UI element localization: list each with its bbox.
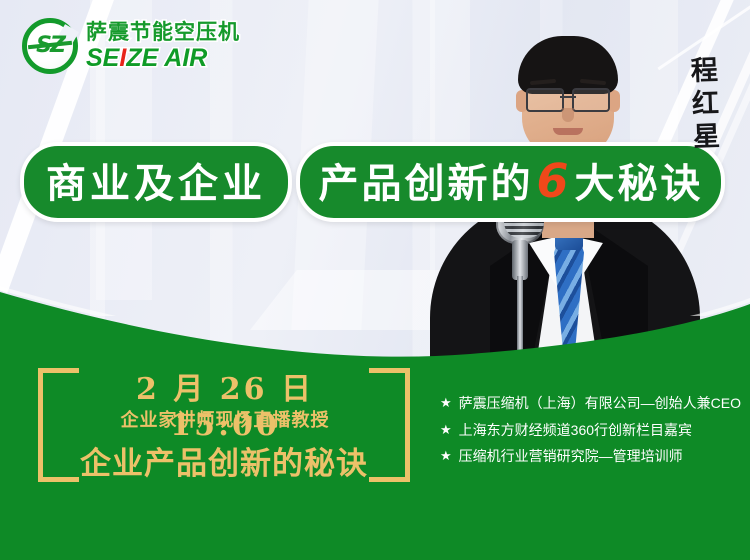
star-icon: ★ bbox=[440, 449, 452, 463]
credential-text: 压缩机行业营销研究院—管理培训师 bbox=[459, 449, 683, 464]
logo-mark-icon: SZ bbox=[22, 18, 78, 74]
headline-number: 6 bbox=[533, 154, 574, 208]
glasses-lens-left bbox=[526, 88, 564, 112]
promo-banner: SZ 萨震节能空压机 SEIZE AIR 商业及企业 产品创新的6大秘诀 程红星… bbox=[0, 0, 750, 560]
brand-name-en-pre: SE bbox=[86, 44, 119, 72]
event-details: 2 月 26 日 15:00 企业家讲师现场直播教授 企业产品创新的秘诀 bbox=[38, 360, 410, 488]
glasses-bridge bbox=[560, 96, 576, 98]
logo-monogram: SZ bbox=[30, 31, 70, 61]
brand-logo: SZ 萨震节能空压机 SEIZE AIR bbox=[22, 18, 240, 74]
headline-line-2-pre: 产品创新的 bbox=[318, 162, 533, 206]
nose bbox=[562, 108, 574, 122]
event-subtitle: 企业家讲师现场直播教授 bbox=[86, 406, 364, 432]
list-item: ★ 上海东方财经频道360行创新栏目嘉宾 bbox=[440, 423, 740, 438]
speaker-name-vertical: 程红星 bbox=[674, 55, 721, 155]
headline: 商业及企业 产品创新的6大秘诀 bbox=[20, 132, 725, 222]
brand-name-en: SEIZE AIR bbox=[86, 46, 240, 71]
credential-text: 萨震压缩机（上海）有限公司—创始人兼CEO bbox=[459, 396, 741, 411]
headline-line-2: 产品创新的6大秘诀 bbox=[296, 142, 725, 222]
credentials-list: ★ 萨震压缩机（上海）有限公司—创始人兼CEO ★ 上海东方财经频道360行创新… bbox=[440, 396, 740, 476]
glasses-lens-right bbox=[572, 88, 610, 112]
brand-logo-text: 萨震节能空压机 SEIZE AIR bbox=[86, 22, 240, 71]
credential-text: 上海东方财经频道360行创新栏目嘉宾 bbox=[459, 423, 692, 438]
brand-name-en-post: ZE AIR bbox=[126, 44, 207, 72]
headline-line-2-post: 大秘诀 bbox=[574, 162, 703, 206]
glasses-icon bbox=[526, 88, 610, 108]
star-icon: ★ bbox=[440, 396, 452, 410]
headline-line-1: 商业及企业 bbox=[20, 142, 292, 222]
list-item: ★ 萨震压缩机（上海）有限公司—创始人兼CEO bbox=[440, 396, 740, 411]
hair bbox=[518, 36, 618, 94]
microphone-neck bbox=[512, 240, 528, 280]
brand-name-cn: 萨震节能空压机 bbox=[86, 22, 240, 43]
star-icon: ★ bbox=[440, 423, 452, 437]
event-main-title: 企业产品创新的秘诀 bbox=[68, 438, 380, 483]
list-item: ★ 压缩机行业营销研究院—管理培训师 bbox=[440, 449, 740, 464]
